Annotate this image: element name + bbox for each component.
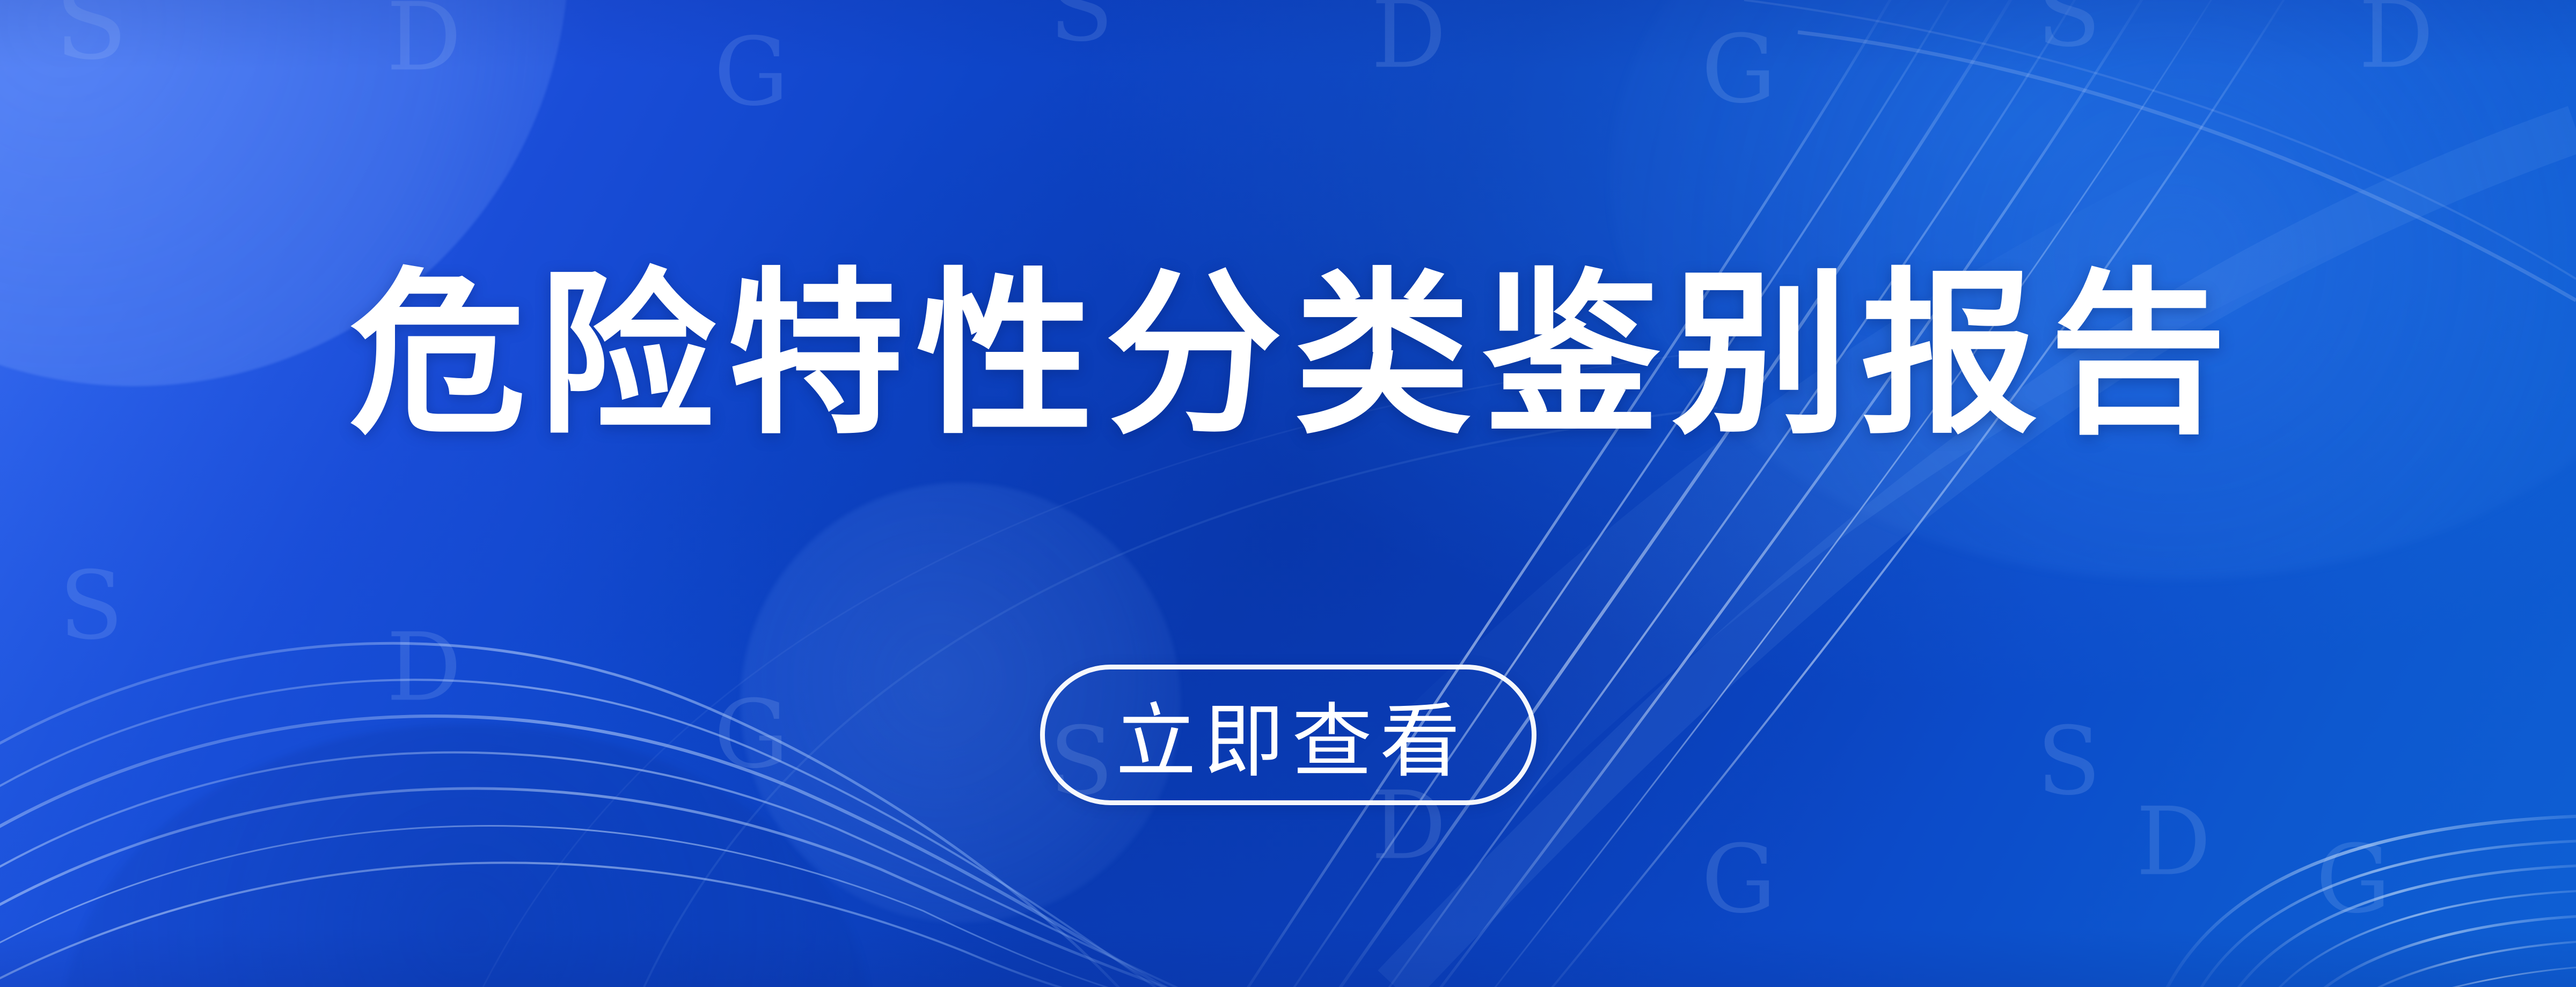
banner-title: 危险特性分类鉴别报告 <box>338 262 2238 450</box>
cta-container: 立即查看 <box>1040 665 1536 805</box>
promo-banner: SDGSDGSDGSDGSDGSDG 危险特性分类鉴别报告 立即查看 <box>0 0 2576 987</box>
view-now-button[interactable]: 立即查看 <box>1040 665 1536 805</box>
banner-content: 危险特性分类鉴别报告 立即查看 <box>0 0 2576 987</box>
